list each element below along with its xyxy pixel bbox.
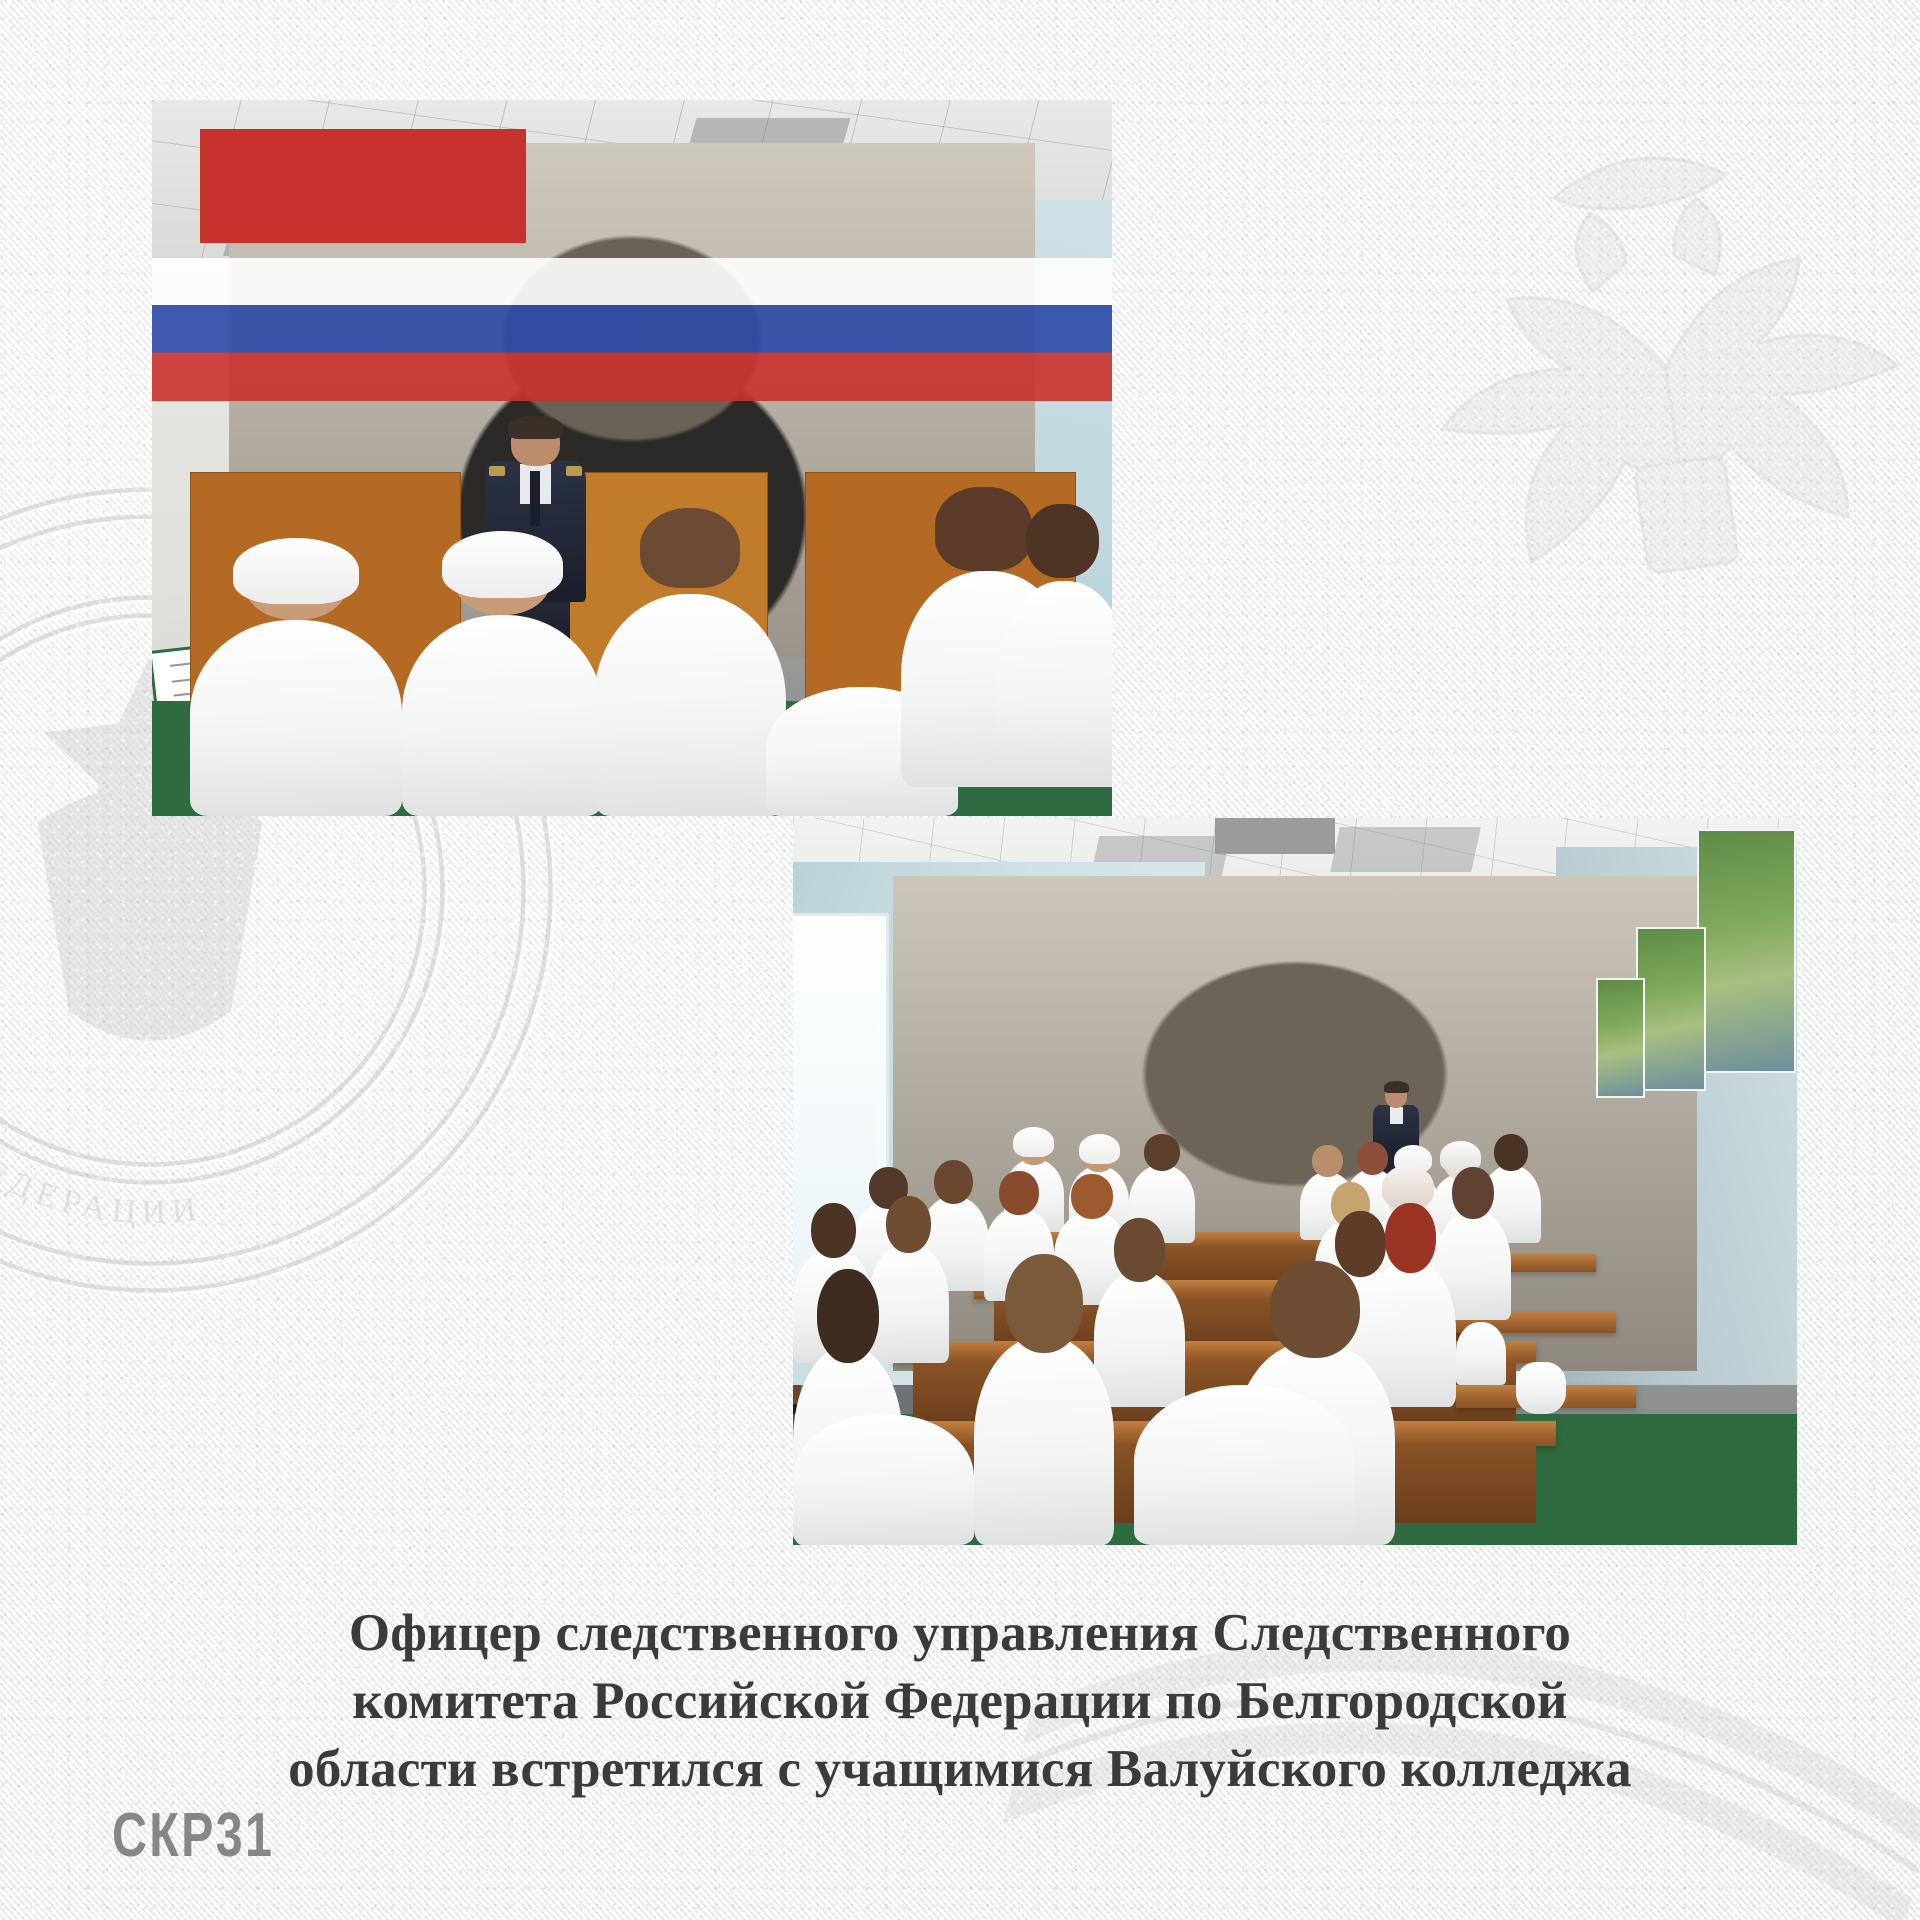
student-figure	[1134, 1385, 1355, 1545]
student-figure	[793, 1414, 974, 1545]
caption-line-3: области встретился с учащимися Валуйског…	[70, 1736, 1850, 1804]
double-headed-eagle-watermark	[1217, 7, 1920, 933]
landscape-photo	[1697, 829, 1796, 1073]
caption-line-2: комитета Российской Федерации по Белгоро…	[70, 1668, 1850, 1736]
student-figure	[402, 537, 604, 816]
landscape-photo	[1636, 927, 1705, 1091]
caption-line-1: Офицер следственного управления Следстве…	[70, 1600, 1850, 1668]
caption-text: Офицер следственного управления Следстве…	[0, 1600, 1920, 1803]
student-figure	[190, 544, 401, 816]
photo-lecture-hall-students-listening	[793, 818, 1797, 1545]
photo-classroom-officer-speaking	[152, 100, 1112, 816]
white-cap-on-bench	[1516, 1341, 1566, 1414]
student-figure	[997, 501, 1112, 787]
svg-text:РОССИЙСКОЙ ФЕДЕРАЦИИ: РОССИЙСКОЙ ФЕДЕРАЦИИ	[0, 889, 205, 1231]
skr31-watermark-label: СКР31	[112, 1800, 274, 1871]
student-figure	[1456, 1298, 1506, 1385]
student-figure	[974, 1254, 1115, 1545]
landscape-photo	[1596, 978, 1645, 1098]
student-figure	[594, 508, 786, 816]
social-media-card: РОССИЙСКОЙ ФЕДЕРАЦИИ	[0, 0, 1920, 1920]
